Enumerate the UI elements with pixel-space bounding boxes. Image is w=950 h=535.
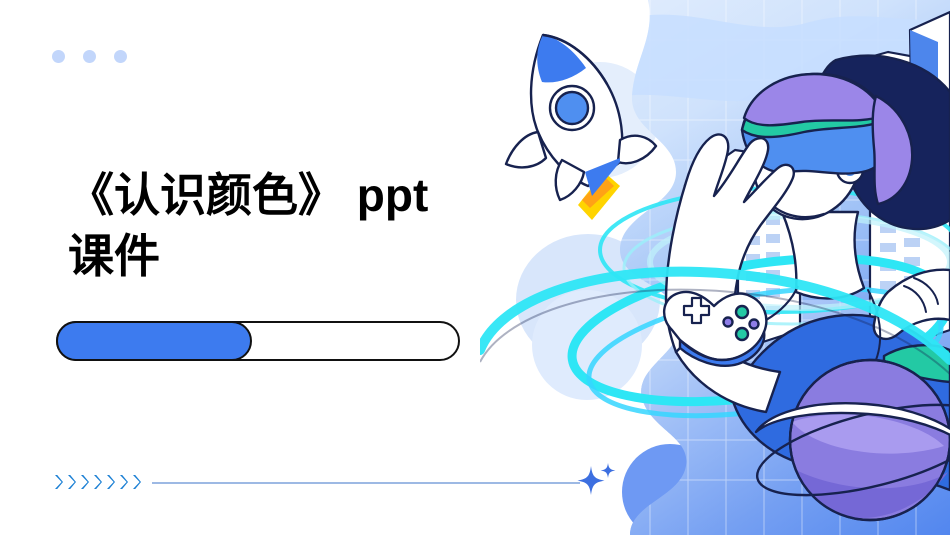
slide-title-line-1: 《认识颜色》 ppt: [68, 165, 468, 226]
chevron-arrows: [54, 474, 145, 490]
dot-1: [52, 50, 65, 63]
chevron-right-icon: [132, 474, 141, 490]
progress-bar-track[interactable]: [56, 321, 460, 361]
chevron-right-icon: [80, 474, 89, 490]
dot-2: [83, 50, 96, 63]
slide-title-line-2: 课件: [68, 226, 468, 287]
progress-bar-fill: [56, 321, 252, 361]
slide-title: 《认识颜色》 ppt 课件: [68, 165, 468, 286]
dot-3: [114, 50, 127, 63]
slide-canvas: 《认识颜色》 ppt 课件: [0, 0, 950, 535]
chevron-right-icon: [54, 474, 63, 490]
chevron-right-icon: [67, 474, 76, 490]
chevron-right-icon: [119, 474, 128, 490]
chevron-right-icon: [106, 474, 115, 490]
three-dots: [52, 50, 127, 63]
vr-technology-illustration: [480, 0, 950, 535]
chevron-right-icon: [93, 474, 102, 490]
